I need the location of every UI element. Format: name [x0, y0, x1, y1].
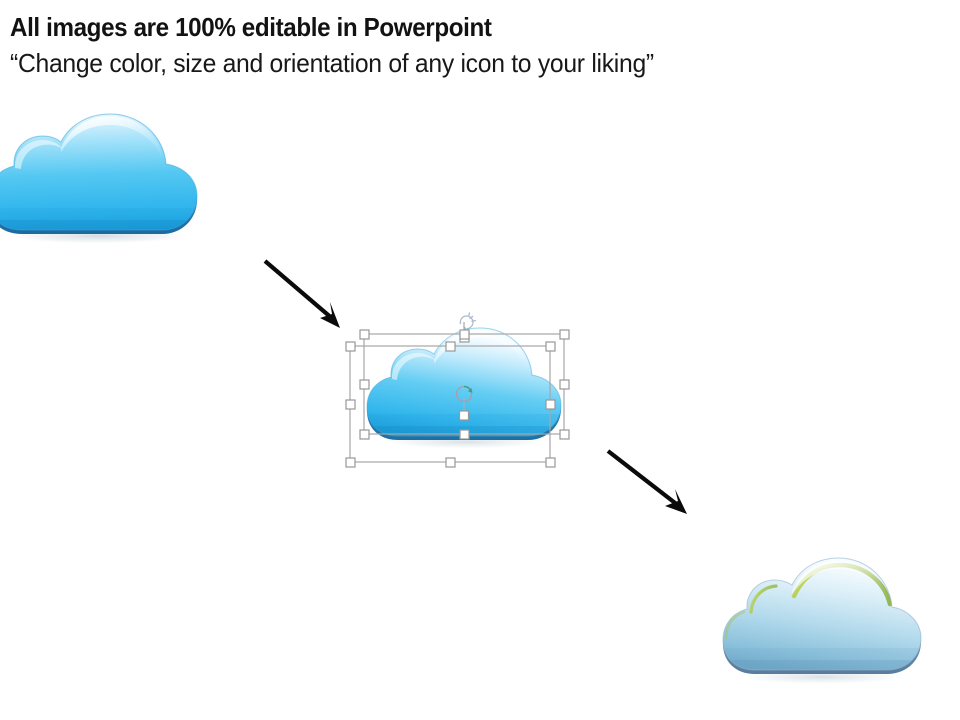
selection-overlay[interactable]: .selbox { fill:none; stroke:#a7a7a7; str…: [340, 318, 590, 478]
outer-handle-middle-left[interactable]: [346, 400, 355, 409]
handle-bottom-left[interactable]: [360, 430, 369, 439]
arrow-original-to-selected: [262, 258, 352, 334]
handle-top-left[interactable]: [360, 330, 369, 339]
cloud-original-label: Blue cloud icon (original): [0, 0, 1, 1]
outer-handle-top-left[interactable]: [346, 342, 355, 351]
handle-top-center[interactable]: [460, 330, 469, 339]
cloud-icon-recolored[interactable]: [718, 556, 926, 686]
cloud-icon-original[interactable]: [0, 112, 214, 244]
slide-canvas: All images are 100% editable in Powerpoi…: [0, 0, 960, 720]
handle-middle-right[interactable]: [560, 380, 569, 389]
cloud-recolored-label: Recolored pale blue cloud icon with gree…: [0, 0, 1, 1]
cloud-selected-label: Blue cloud icon (selected for editing): [0, 0, 1, 1]
handle-top-right[interactable]: [560, 330, 569, 339]
handle-middle-left[interactable]: [360, 380, 369, 389]
outer-handle-bottom-right[interactable]: [546, 458, 555, 467]
selection-label: PowerPoint object selection: [0, 0, 1, 1]
outer-handle-bottom-center[interactable]: [446, 458, 455, 467]
arrow-selected-to-recolored: [605, 448, 697, 520]
handle-bottom-center[interactable]: [460, 430, 469, 439]
handle-bottom-right[interactable]: [560, 430, 569, 439]
outer-selection-box: [350, 346, 550, 462]
page-title: All images are 100% editable in Powerpoi…: [10, 12, 847, 42]
page-subtitle: “Change color, size and orientation of a…: [10, 48, 884, 78]
outer-handle-bottom-left[interactable]: [346, 458, 355, 467]
arrow-top-label: Arrow pointing from original icon to sel…: [0, 0, 1, 1]
outer-handle-top-center[interactable]: [446, 342, 455, 351]
outer-handle-middle-right[interactable]: [546, 400, 555, 409]
arrow-bottom-label: Arrow pointing from selected icon to rec…: [0, 0, 1, 1]
center-rotate-gizmo[interactable]: [457, 386, 473, 420]
outer-handle-top-right[interactable]: [546, 342, 555, 351]
